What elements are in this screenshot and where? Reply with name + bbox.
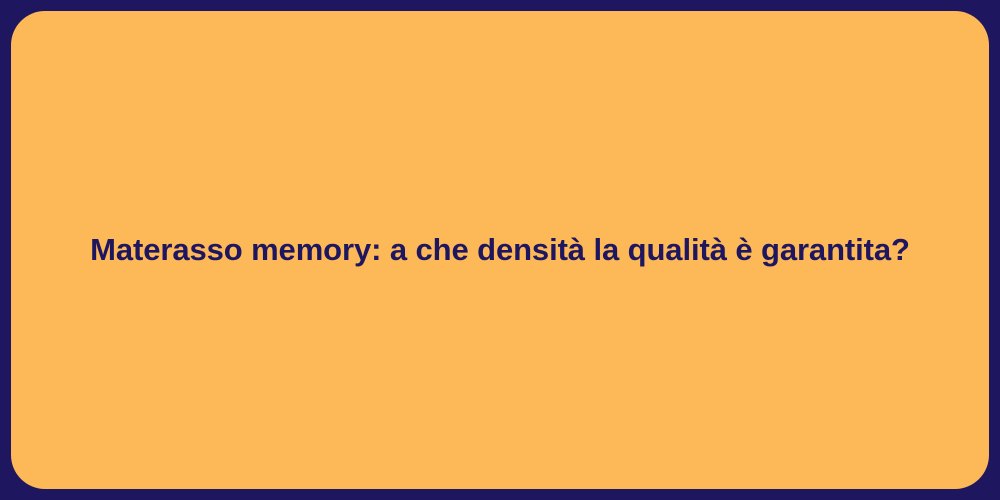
card-panel: Materasso memory: a che densità la quali…	[11, 11, 989, 489]
card-frame: Materasso memory: a che densità la quali…	[0, 0, 1000, 500]
page-title: Materasso memory: a che densità la quali…	[81, 231, 919, 270]
heading-container: Materasso memory: a che densità la quali…	[11, 231, 989, 270]
